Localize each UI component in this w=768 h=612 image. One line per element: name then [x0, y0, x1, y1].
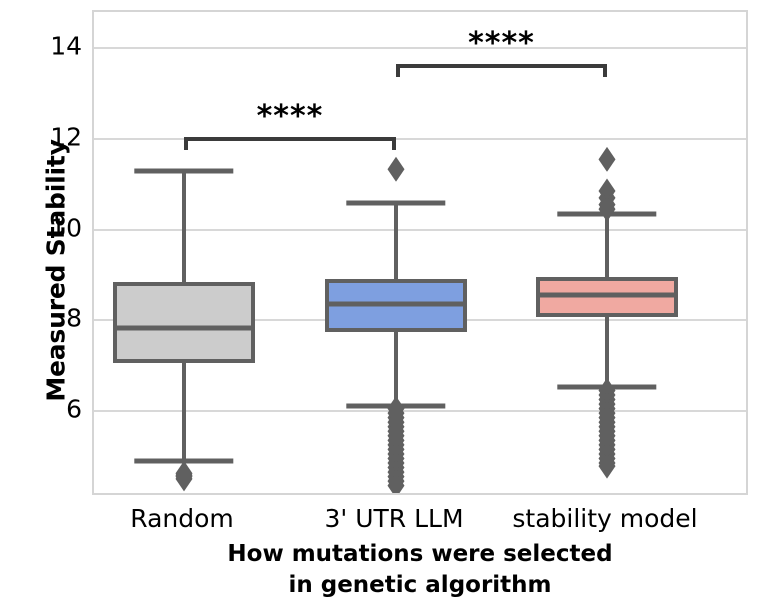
y-tick-label-8: 8: [12, 304, 82, 333]
y-axis-tick-labels: 68101214: [0, 0, 82, 612]
whisker-cap-lower: [557, 384, 656, 389]
x-axis-title-line1: How mutations were selected: [92, 539, 748, 570]
y-tick-label-6: 6: [12, 394, 82, 423]
x-tick-label-utr-llm: 3' UTR LLM: [324, 504, 463, 533]
x-axis-title: How mutations were selected in genetic a…: [92, 539, 748, 601]
y-tick-label-10: 10: [12, 213, 82, 242]
sig-llm-vs-stability-bracket: [396, 64, 607, 77]
outlier-marker: [599, 147, 616, 172]
median-line: [536, 293, 678, 298]
sig-llm-vs-stability-label: ****: [468, 26, 535, 61]
y-tick-label-14: 14: [12, 32, 82, 61]
y-tick-label-12: 12: [12, 122, 82, 151]
whisker-lower: [605, 317, 609, 387]
whisker-cap-upper: [557, 211, 656, 216]
x-axis-title-line2: in genetic algorithm: [92, 570, 748, 601]
x-tick-label-random: Random: [130, 504, 234, 533]
whisker-upper: [605, 214, 609, 277]
plot-area: ********: [92, 10, 748, 495]
box-group-2: [94, 12, 746, 493]
boxplot-figure: Measured Stability 68101214 ******** Ran…: [0, 0, 768, 612]
sig-random-vs-llm-bracket: [184, 137, 396, 150]
x-tick-label-stability-model: stability model: [512, 504, 697, 533]
sig-random-vs-llm-label: ****: [257, 99, 324, 134]
